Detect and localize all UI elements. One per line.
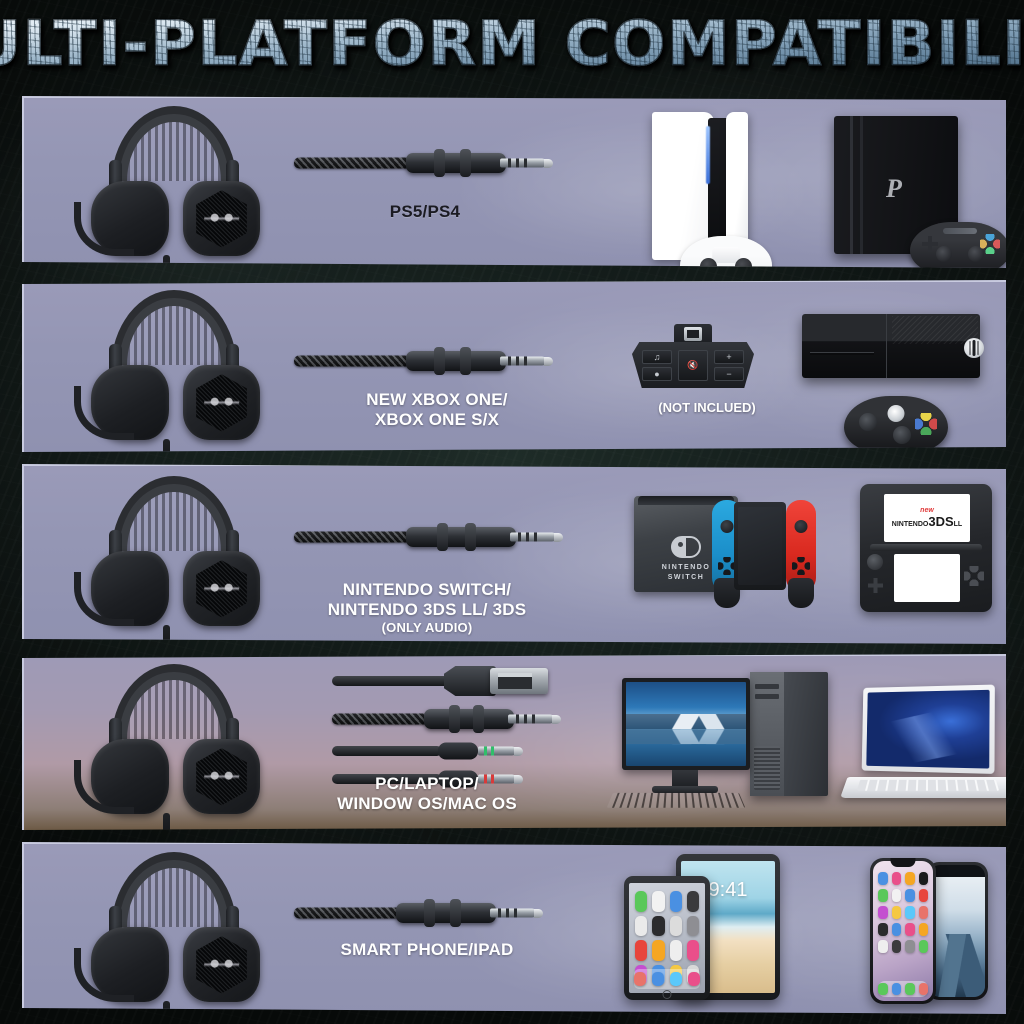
- 3.5mm-jack: [500, 357, 546, 366]
- jack-tip: [554, 533, 563, 542]
- cable-connector-barrel: [424, 709, 514, 729]
- laptop-base: [840, 777, 1006, 798]
- home-button[interactable]: [663, 990, 672, 999]
- 3.5mm-audio-cable: [294, 354, 554, 368]
- app-icon[interactable]: [652, 891, 664, 912]
- smartphones: [870, 858, 1006, 1006]
- gaming-headset: [86, 664, 262, 824]
- headset-cord: [163, 439, 170, 452]
- galaxy-wallpaper: [929, 865, 985, 997]
- braided-cable: [294, 158, 414, 169]
- face-buttons: [964, 566, 984, 586]
- app-dock: [878, 981, 928, 997]
- tower-front-panel: [750, 672, 784, 796]
- app-icon[interactable]: [905, 940, 915, 953]
- page-title: MULTI-PLATFORM COMPATIBILITY: [0, 13, 1024, 75]
- controller-body: [680, 236, 772, 268]
- nintendo-switch-logo-text: NINTENDO SWITCH: [662, 563, 711, 582]
- dock-icon-messages[interactable]: [905, 983, 915, 995]
- dpad: [868, 578, 883, 593]
- lockscreen-time: 9:41: [709, 879, 748, 902]
- joycon-right: [786, 500, 816, 592]
- 3.5mm-audio-cable: [294, 530, 574, 544]
- cable-connector-barrel: [406, 351, 506, 371]
- laptop-lid: [862, 685, 995, 774]
- xbox-guide-button: [888, 405, 905, 422]
- braided-cable: [332, 714, 432, 725]
- xbox-controller: [844, 396, 948, 452]
- dock-icon[interactable]: [652, 972, 664, 986]
- wallpaper-mountains: [626, 714, 746, 729]
- usb-connector: [684, 327, 702, 341]
- app-icon[interactable]: [878, 872, 888, 885]
- galaxy-screen: [929, 865, 985, 997]
- jack-tip: [514, 747, 523, 756]
- 3ds-logo-model: 3DS: [928, 514, 953, 529]
- analog-stick: [968, 246, 984, 262]
- app-icon[interactable]: [652, 916, 664, 937]
- app-icon[interactable]: [905, 872, 915, 885]
- headphone-jack: [478, 747, 516, 756]
- touch-screen: [894, 554, 960, 602]
- app-grid: [873, 861, 933, 1001]
- dock-icon-music[interactable]: [919, 983, 929, 995]
- platform-row-nintendo: NINTENDO SWITCH/ NINTENDO 3DS LL/ 3DS (O…: [22, 464, 1006, 644]
- headphone-volume-button[interactable]: ♫: [642, 350, 672, 364]
- iphone-screen: [873, 861, 933, 1001]
- brand-logo: [204, 208, 240, 231]
- app-icon[interactable]: [905, 923, 915, 936]
- pc-monitor: [622, 678, 750, 770]
- platform-row-pc: PC/LAPTOP/ WINDOW OS/MAC OS: [22, 654, 1006, 830]
- dpad: [922, 236, 938, 252]
- platform-row-ps: PS5/PS4 P: [22, 96, 1006, 268]
- handheld-shell: new NINTENDO3DSLL: [860, 484, 992, 612]
- analog-stick: [721, 520, 734, 533]
- jack-ring: [524, 715, 527, 724]
- earcup-body: [183, 739, 260, 814]
- usb-cable: [332, 674, 552, 688]
- new-nintendo-3ds-ll: new NINTENDO3DSLL: [860, 484, 1000, 620]
- volume-down-button[interactable]: −: [714, 367, 744, 381]
- controller-body: [910, 222, 1006, 268]
- tower-vent: [754, 746, 780, 790]
- app-icon[interactable]: [878, 906, 888, 919]
- jack-ring: [518, 533, 521, 542]
- earcup-right: [183, 365, 260, 440]
- dualsense-controller: [680, 236, 772, 268]
- joycon-grip: [788, 578, 814, 608]
- mic-monitor-button[interactable]: ●: [642, 367, 672, 381]
- platform-label: NEW XBOX ONE/ XBOX ONE S/X: [292, 390, 582, 430]
- desktop-pc: [622, 678, 836, 818]
- title-banner: MULTI-PLATFORM COMPATIBILITY: [0, 8, 1024, 80]
- 3ds-logo-ll: LL: [954, 521, 963, 528]
- earcup-right: [183, 181, 260, 256]
- jack-tip: [544, 159, 553, 168]
- ps4-vent: [850, 116, 853, 254]
- gaming-headset: [86, 290, 262, 450]
- app-icon[interactable]: [892, 906, 902, 919]
- ipad-tablets: 9:41: [624, 854, 804, 1010]
- 3.5mm-audio-cable: [294, 906, 554, 920]
- dock-icon-phone[interactable]: [878, 983, 888, 995]
- platform-row-xbox: NEW XBOX ONE/ XBOX ONE S/X ♫ ● 🔇 + − (NO…: [22, 280, 1006, 452]
- braided-cable: [294, 532, 414, 543]
- app-icon[interactable]: [892, 940, 902, 953]
- app-icon[interactable]: [919, 923, 929, 936]
- brand-logo: [204, 766, 240, 789]
- jack-ring: [514, 909, 517, 918]
- gaming-headset: [86, 106, 262, 266]
- laptop-keyboard: [857, 780, 999, 791]
- 3.5mm-jack: [510, 533, 556, 542]
- jack-ring: [526, 533, 529, 542]
- 3ds-logo: new NINTENDO3DSLL: [892, 507, 962, 530]
- brand-logo: [204, 392, 240, 415]
- nintendo-switch-logo-icon: [671, 536, 701, 558]
- braided-cable: [294, 908, 404, 919]
- face-buttons: [792, 557, 810, 575]
- wallpaper-wave: [866, 697, 989, 768]
- usb-connector[interactable]: [490, 668, 548, 694]
- app-icon[interactable]: [670, 916, 682, 937]
- infographic-page: MULTI-PLATFORM COMPATIBILITY: [0, 0, 1024, 1024]
- dock-icon[interactable]: [634, 972, 646, 986]
- wallpaper-mountains: [929, 934, 985, 997]
- xbox-logo: [964, 338, 984, 358]
- app-icon[interactable]: [635, 916, 647, 937]
- jack-ring: [508, 159, 511, 168]
- keyboard: [607, 793, 746, 808]
- platform-label-sub: (ONLY AUDIO): [282, 620, 572, 635]
- switch-screen: [738, 507, 782, 585]
- brand-logo: [204, 954, 240, 977]
- dock-icon[interactable]: [670, 972, 682, 986]
- dock-icon[interactable]: [688, 972, 700, 986]
- braided-cable: [294, 356, 414, 367]
- headset-cord: [163, 813, 170, 830]
- jack-tip: [552, 715, 561, 724]
- splitter-barrel: [438, 743, 478, 760]
- dock-icon-safari[interactable]: [892, 983, 902, 995]
- app-icon[interactable]: [670, 891, 682, 912]
- mic-mute-button[interactable]: 🔇: [678, 350, 708, 381]
- earcup-right: [183, 739, 260, 814]
- boom-microphone: [74, 760, 134, 814]
- app-icon[interactable]: [919, 889, 929, 902]
- cable-connector-barrel: [396, 903, 496, 923]
- cable-connector-barrel: [406, 527, 516, 547]
- xbox-one-console: [802, 304, 1002, 434]
- headphone-splitter-cable: [332, 744, 562, 758]
- jack-ring: [516, 159, 519, 168]
- jack-tip: [534, 909, 543, 918]
- app-icon[interactable]: [878, 923, 888, 936]
- jack-ring-green: [484, 747, 487, 756]
- app-icon[interactable]: [670, 940, 682, 961]
- laptop-screen: [866, 690, 989, 769]
- ipad-mini: [624, 876, 710, 1000]
- circle-pad: [867, 554, 883, 570]
- jack-ring: [506, 909, 509, 918]
- monitor-screen: [626, 682, 746, 766]
- top-screen: new NINTENDO3DSLL: [884, 494, 970, 542]
- usb-hood: [444, 666, 496, 696]
- usb-cable-wire: [332, 676, 452, 686]
- app-icon[interactable]: [687, 940, 699, 961]
- switch-console: [734, 502, 786, 590]
- 3.5mm-jack: [508, 715, 554, 724]
- disc-slot: [810, 352, 874, 355]
- playstation-logo: P: [886, 174, 902, 204]
- volume-up-button[interactable]: +: [714, 350, 744, 364]
- analog-stick: [859, 413, 877, 431]
- earcup-right: [183, 551, 260, 626]
- ps4-vent: [860, 116, 863, 254]
- 3.5mm-audio-cable: [294, 156, 554, 170]
- gaming-headset: [86, 852, 262, 1012]
- 3.5mm-jack: [500, 159, 546, 168]
- analog-stick: [893, 426, 911, 444]
- app-icon[interactable]: [919, 940, 929, 953]
- iphone-x: [870, 858, 936, 1004]
- notch: [890, 858, 915, 867]
- controller-body: [844, 396, 948, 452]
- boom-microphone: [74, 948, 134, 1002]
- earcup-body: [183, 365, 260, 440]
- optical-drive-bay: [755, 694, 779, 699]
- ipad-homescreen: [629, 883, 705, 993]
- jack-tip: [544, 357, 553, 366]
- ps5-console: [634, 112, 784, 268]
- app-dock: [634, 969, 700, 989]
- platform-label: SMART PHONE/IPAD: [282, 940, 572, 960]
- ps5-led-strip: [706, 126, 710, 184]
- earcup-body: [183, 551, 260, 626]
- dualshock4-controller: [910, 222, 1006, 268]
- 3ds-logo-new: new: [920, 507, 934, 514]
- adapter-note: (NOT INCLUED): [622, 400, 792, 415]
- app-icon[interactable]: [919, 906, 929, 919]
- platform-label: NINTENDO SWITCH/ NINTENDO 3DS LL/ 3DS (O…: [282, 560, 572, 644]
- app-icon[interactable]: [919, 872, 929, 885]
- platform-row-mobile: SMART PHONE/IPAD 9:41: [22, 842, 1006, 1014]
- ps4-pro-console: P: [834, 116, 994, 266]
- face-buttons: [915, 413, 937, 435]
- cable-connector-barrel: [406, 153, 506, 173]
- pc-tower: [750, 672, 828, 796]
- jack-ring: [524, 357, 527, 366]
- boom-microphone: [74, 386, 134, 440]
- analog-stick: [936, 246, 952, 262]
- gaming-headset: [86, 476, 262, 636]
- splitter-wire: [332, 746, 442, 756]
- platform-label: PS5/PS4: [292, 202, 558, 222]
- jack-ring-green: [491, 747, 494, 756]
- jack-ring: [516, 357, 519, 366]
- jack-ring: [524, 159, 527, 168]
- jack-ring: [532, 715, 535, 724]
- app-icon[interactable]: [878, 889, 888, 902]
- app-icon[interactable]: [878, 940, 888, 953]
- 3.5mm-audio-cable: [332, 712, 562, 726]
- app-icon[interactable]: [635, 891, 647, 912]
- laptop: [844, 686, 1006, 816]
- app-icon[interactable]: [905, 906, 915, 919]
- nintendo-switch: NINTENDO SWITCH: [634, 488, 830, 618]
- app-icon[interactable]: [635, 940, 647, 961]
- wallpaper-reflection: [626, 729, 746, 744]
- earcup-body: [183, 181, 260, 256]
- app-icon[interactable]: [892, 889, 902, 902]
- analog-stick: [795, 520, 808, 533]
- app-icon[interactable]: [687, 916, 699, 937]
- app-icon[interactable]: [892, 923, 902, 936]
- app-icon[interactable]: [687, 891, 699, 912]
- jack-ring: [516, 715, 519, 724]
- touchpad: [943, 228, 977, 234]
- 3ds-logo-nintendo: NINTENDO: [892, 521, 929, 528]
- console-vent: [892, 316, 978, 344]
- console-seam: [886, 314, 887, 378]
- boom-microphone: [74, 202, 134, 256]
- earcup-right: [183, 927, 260, 1002]
- app-icon[interactable]: [892, 872, 902, 885]
- boom-microphone: [74, 572, 134, 626]
- brand-logo: [204, 578, 240, 601]
- 3.5mm-jack: [490, 909, 536, 918]
- earcup-body: [183, 927, 260, 1002]
- hinge: [870, 544, 982, 551]
- jack-ring: [534, 533, 537, 542]
- platform-label-text: NINTENDO SWITCH/ NINTENDO 3DS LL/ 3DS: [328, 580, 527, 619]
- jack-ring: [508, 357, 511, 366]
- jack-ring: [498, 909, 501, 918]
- optical-drive-bay: [755, 684, 779, 689]
- app-icon[interactable]: [652, 940, 664, 961]
- platform-label: PC/LAPTOP/ WINDOW OS/MAC OS: [282, 774, 572, 814]
- app-icon[interactable]: [905, 889, 915, 902]
